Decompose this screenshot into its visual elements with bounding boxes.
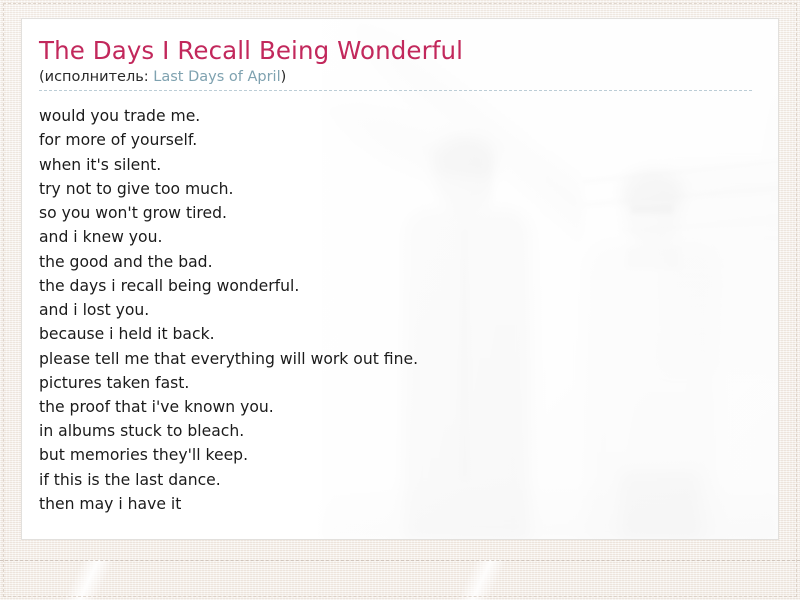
artist-line: (исполнитель: Last Days of April) bbox=[39, 69, 758, 85]
lyrics-block: would you trade me.for more of yourself.… bbox=[39, 104, 758, 516]
lyric-line: and i lost you. bbox=[39, 298, 758, 322]
lyric-line: pictures taken fast. bbox=[39, 371, 758, 395]
lyric-line: so you won't grow tired. bbox=[39, 201, 758, 225]
content-panel: The Days I Recall Being Wonderful (испол… bbox=[21, 18, 779, 540]
backdrop-sheen bbox=[0, 560, 800, 600]
panel-content: The Days I Recall Being Wonderful (испол… bbox=[22, 19, 778, 539]
lyric-line: and i knew you. bbox=[39, 225, 758, 249]
header-divider bbox=[39, 90, 752, 91]
artist-label-suffix: ) bbox=[281, 69, 287, 85]
song-title: The Days I Recall Being Wonderful bbox=[39, 37, 758, 65]
lyric-line: please tell me that everything will work… bbox=[39, 347, 758, 371]
lyric-line: the good and the bad. bbox=[39, 250, 758, 274]
artist-link[interactable]: Last Days of April bbox=[153, 69, 280, 85]
lyric-line: in albums stuck to bleach. bbox=[39, 419, 758, 443]
lyric-line: but memories they'll keep. bbox=[39, 443, 758, 467]
lyric-line: when it's silent. bbox=[39, 153, 758, 177]
lyric-line: if this is the last dance. bbox=[39, 468, 758, 492]
lyric-line: would you trade me. bbox=[39, 104, 758, 128]
lyric-line: the proof that i've known you. bbox=[39, 395, 758, 419]
lyric-line: the days i recall being wonderful. bbox=[39, 274, 758, 298]
lyric-line: for more of yourself. bbox=[39, 128, 758, 152]
lyric-line: try not to give too much. bbox=[39, 177, 758, 201]
lower-dashed-rule bbox=[0, 560, 800, 561]
lyric-line: then may i have it bbox=[39, 492, 758, 516]
lyric-line: because i held it back. bbox=[39, 322, 758, 346]
artist-label-prefix: (исполнитель: bbox=[39, 69, 153, 85]
